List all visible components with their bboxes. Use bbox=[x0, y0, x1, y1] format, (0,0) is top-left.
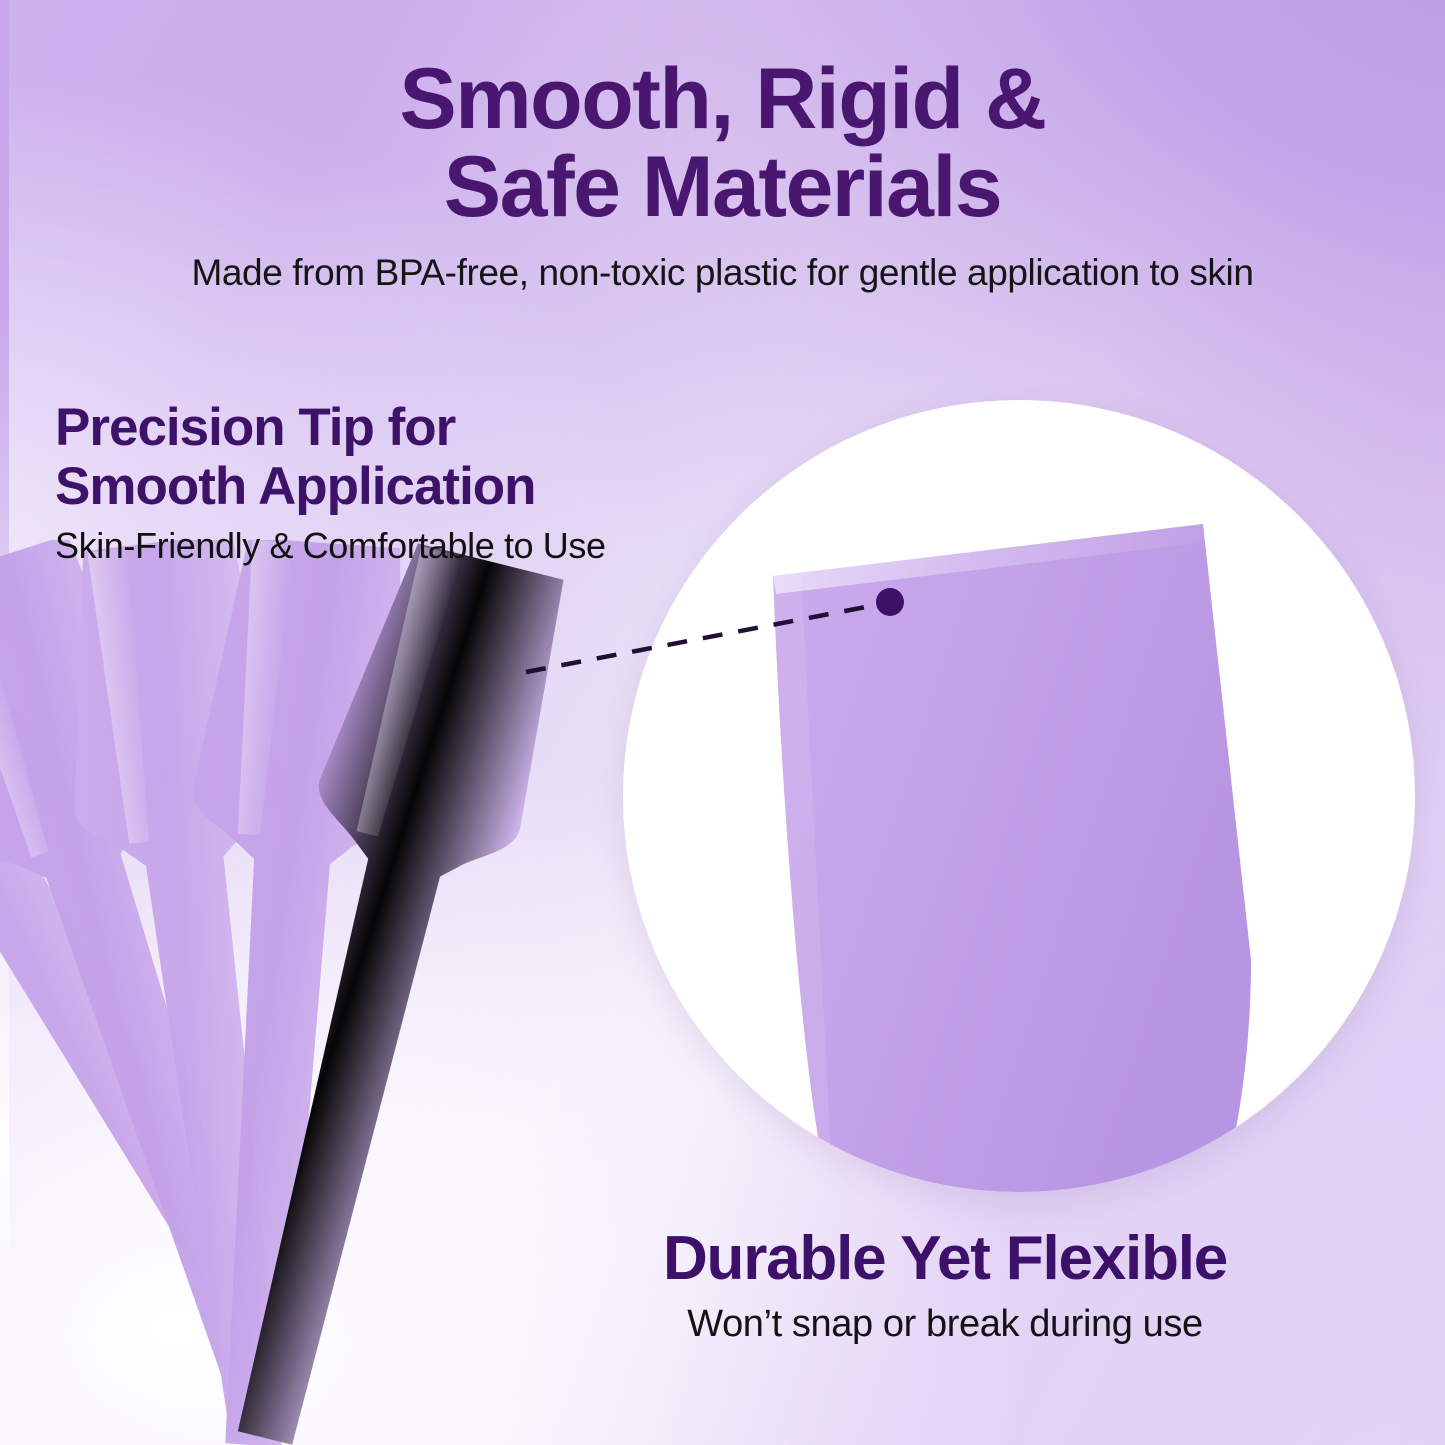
headline-line-1: Smooth, Rigid & bbox=[399, 51, 1045, 147]
product-infographic: Smooth, Rigid & Safe Materials Made from… bbox=[0, 0, 1445, 1445]
feature-left-text-block: Precision Tip for Smooth Application Ski… bbox=[55, 398, 755, 567]
feature-bottom-caption: Won’t snap or break during use bbox=[445, 1303, 1445, 1346]
page-title: Smooth, Rigid & Safe Materials bbox=[0, 56, 1445, 231]
page-subtitle: Made from BPA-free, non-toxic plastic fo… bbox=[0, 252, 1445, 294]
headline-line-2: Safe Materials bbox=[0, 144, 1445, 232]
precision-tip-callout-dot bbox=[876, 588, 904, 616]
feature-left-title-line-1: Precision Tip for bbox=[55, 398, 455, 457]
feature-bottom-title: Durable Yet Flexible bbox=[445, 1226, 1445, 1291]
feature-left-caption: Skin-Friendly & Comfortable to Use bbox=[55, 525, 755, 567]
feature-left-title-line-2: Smooth Application bbox=[55, 457, 755, 516]
feature-left-title: Precision Tip for Smooth Application bbox=[55, 398, 755, 517]
feature-bottom-text-block: Durable Yet Flexible Won’t snap or break… bbox=[445, 1226, 1445, 1346]
